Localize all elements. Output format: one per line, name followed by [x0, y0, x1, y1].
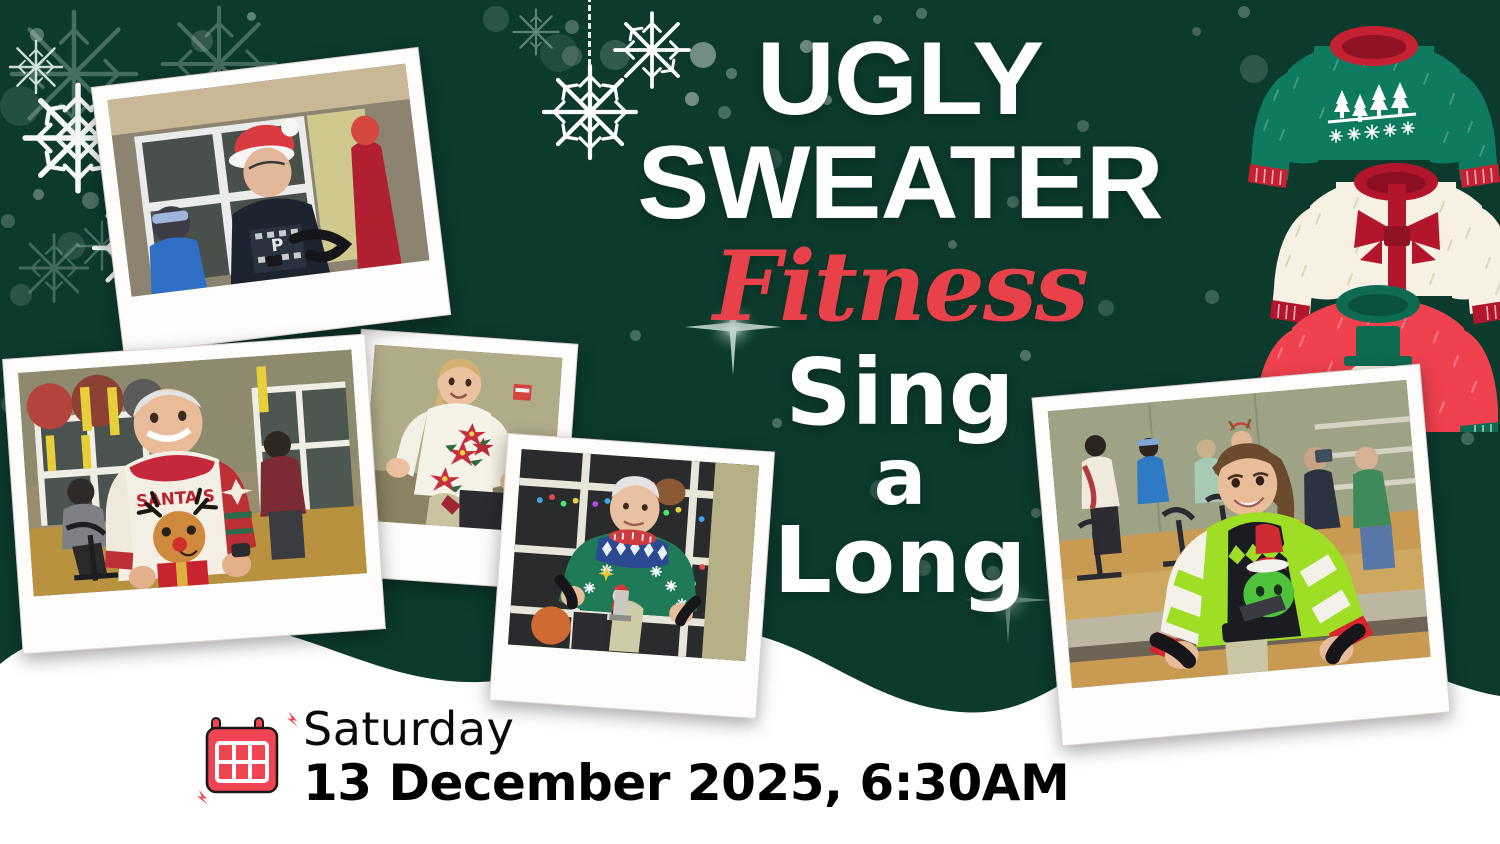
bokeh-circle — [916, 8, 927, 19]
photo-santas-reindeer-sweater[interactable]: SANTA'S — [2, 334, 386, 655]
headline-line-ugly: UGLY — [630, 32, 1171, 128]
red-tick-mark — [286, 710, 302, 733]
photo-image: P — [107, 64, 429, 297]
bokeh-circle — [1, 214, 15, 228]
snowflake-icon — [5, 36, 67, 98]
headline-line-long: Long — [640, 517, 1160, 604]
date-text-group: Saturday 13 December 2025, 6:30AM — [303, 706, 1069, 808]
red-tick-mark — [196, 788, 212, 811]
headline-line-sing: Sing — [640, 349, 1160, 436]
snowflake-icon — [508, 4, 564, 60]
svg-text:P: P — [270, 234, 285, 255]
bokeh-circle — [1192, 27, 1201, 36]
headline-line-sweater: SWEATER — [630, 136, 1171, 232]
event-date-time: 13 December 2025, 6:30AM — [303, 758, 1069, 808]
sweater-green-trees — [1248, 26, 1500, 188]
poster-canvas: P — [0, 0, 1500, 844]
bokeh-circle — [1461, 432, 1474, 445]
event-date-block: Saturday 13 December 2025, 6:30AM — [203, 706, 1069, 808]
event-weekday: Saturday — [303, 706, 1069, 752]
bokeh-circle — [1205, 290, 1219, 304]
headline-block: UGLY SWEATER Fitness Sing a Long — [640, 32, 1160, 604]
bokeh-circle — [565, 20, 579, 34]
bokeh-circle — [483, 6, 509, 32]
photo-santa-hat-purdue[interactable]: P — [91, 47, 451, 355]
headline-script-fitness: Fitness — [640, 239, 1160, 335]
calendar-icon — [203, 712, 281, 803]
headline-line-a: a — [640, 441, 1160, 515]
photo-image: SANTA'S — [18, 350, 367, 597]
